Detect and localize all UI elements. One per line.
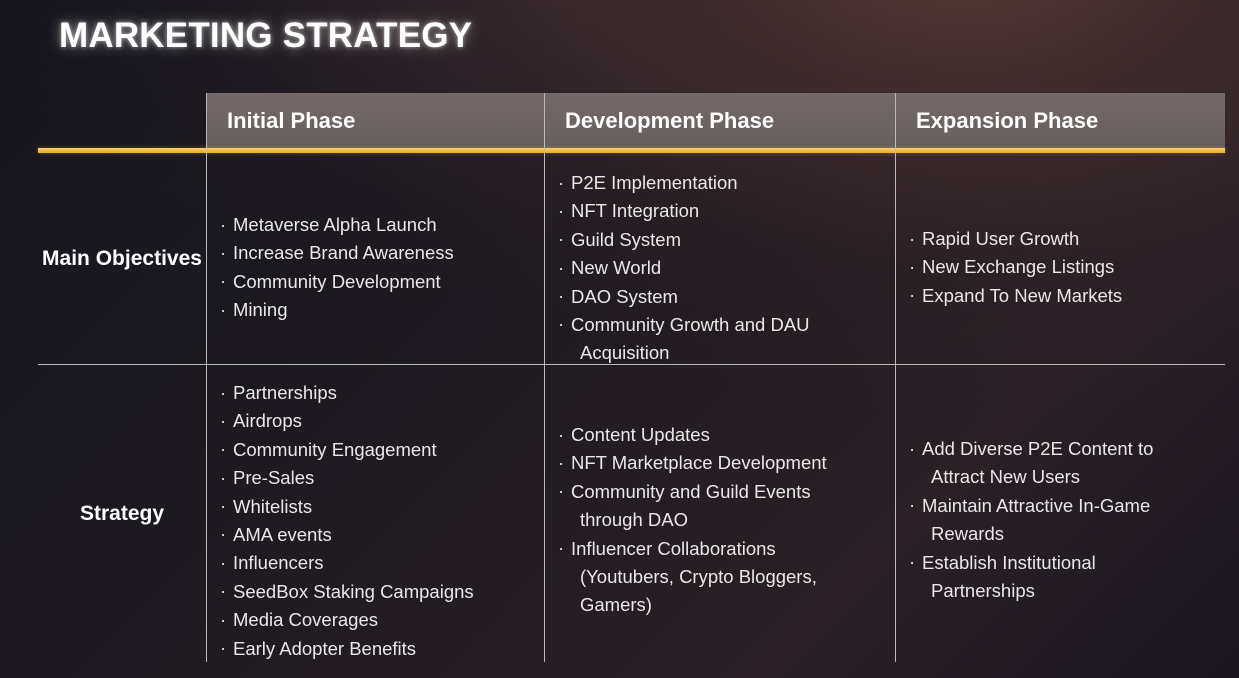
list-item: Guild System [558, 226, 900, 254]
list-item: Airdrops [220, 407, 550, 435]
row-label-main-objectives: Main Objectives [38, 153, 206, 364]
list-item: Expand To New Markets [909, 282, 1231, 310]
list-item-continuation: Attract New Users [922, 463, 1231, 491]
row-label-strategy: Strategy [38, 365, 206, 663]
list-item: New World [558, 254, 900, 282]
list-item: Community Engagement [220, 436, 550, 464]
list-item: Influencers [220, 549, 550, 577]
list-item: Community Growth and DAUAcquisition [558, 311, 900, 368]
cell-main-objectives-initial-phase: Metaverse Alpha LaunchIncrease Brand Awa… [220, 211, 550, 325]
list-item: New Exchange Listings [909, 253, 1231, 281]
list-item-continuation: Rewards [922, 520, 1231, 548]
list-item: Metaverse Alpha Launch [220, 211, 550, 239]
bullet-list: Metaverse Alpha LaunchIncrease Brand Awa… [220, 211, 550, 325]
list-item: Community Development [220, 268, 550, 296]
list-item-continuation: Acquisition [571, 339, 900, 367]
list-item-continuation: (Youtubers, Crypto Bloggers, [571, 563, 900, 591]
list-item: Community and Guild Eventsthrough DAO [558, 478, 900, 535]
list-item: Partnerships [220, 379, 550, 407]
cell-strategy-initial-phase: PartnershipsAirdropsCommunity Engagement… [220, 379, 550, 663]
bullet-list: Rapid User GrowthNew Exchange ListingsEx… [909, 225, 1231, 310]
cell-main-objectives-expansion-phase: Rapid User GrowthNew Exchange ListingsEx… [909, 225, 1231, 310]
list-item: Establish InstitutionalPartnerships [909, 549, 1231, 606]
bullet-list: PartnershipsAirdropsCommunity Engagement… [220, 379, 550, 663]
column-header-development-phase: Development Phase [544, 93, 895, 148]
bullet-list: Add Diverse P2E Content toAttract New Us… [909, 435, 1231, 605]
list-item: Mining [220, 296, 550, 324]
cell-strategy-development-phase: Content UpdatesNFT Marketplace Developme… [558, 421, 900, 620]
list-item: NFT Marketplace Development [558, 449, 900, 477]
column-header-expansion-phase: Expansion Phase [895, 93, 1225, 148]
list-item: NFT Integration [558, 197, 900, 225]
cell-strategy-expansion-phase: Add Diverse P2E Content toAttract New Us… [909, 435, 1231, 605]
list-item: Maintain Attractive In-GameRewards [909, 492, 1231, 549]
bullet-list: P2E ImplementationNFT IntegrationGuild S… [558, 169, 900, 368]
slide-canvas: MARKETING STRATEGY Initial Phase Develop… [0, 0, 1239, 678]
list-item: Whitelists [220, 493, 550, 521]
list-item: SeedBox Staking Campaigns [220, 578, 550, 606]
list-item: Increase Brand Awareness [220, 239, 550, 267]
list-item: P2E Implementation [558, 169, 900, 197]
list-item: Media Coverages [220, 606, 550, 634]
list-item: DAO System [558, 283, 900, 311]
list-item: Early Adopter Benefits [220, 635, 550, 663]
page-title: MARKETING STRATEGY [59, 16, 472, 56]
list-item: Content Updates [558, 421, 900, 449]
column-header-initial-phase: Initial Phase [206, 93, 544, 148]
list-item: Influencer Collaborations(Youtubers, Cry… [558, 535, 900, 620]
marketing-strategy-table: Initial Phase Development Phase Expansio… [38, 93, 1225, 663]
accent-rule [38, 148, 1225, 153]
list-item-continuation: through DAO [571, 506, 900, 534]
column-divider-1 [206, 93, 207, 662]
bullet-list: Content UpdatesNFT Marketplace Developme… [558, 421, 900, 620]
list-item: AMA events [220, 521, 550, 549]
list-item: Add Diverse P2E Content toAttract New Us… [909, 435, 1231, 492]
cell-main-objectives-development-phase: P2E ImplementationNFT IntegrationGuild S… [558, 169, 900, 368]
list-item-continuation: Gamers) [571, 591, 900, 619]
list-item: Pre-Sales [220, 464, 550, 492]
list-item: Rapid User Growth [909, 225, 1231, 253]
list-item-continuation: Partnerships [922, 577, 1231, 605]
